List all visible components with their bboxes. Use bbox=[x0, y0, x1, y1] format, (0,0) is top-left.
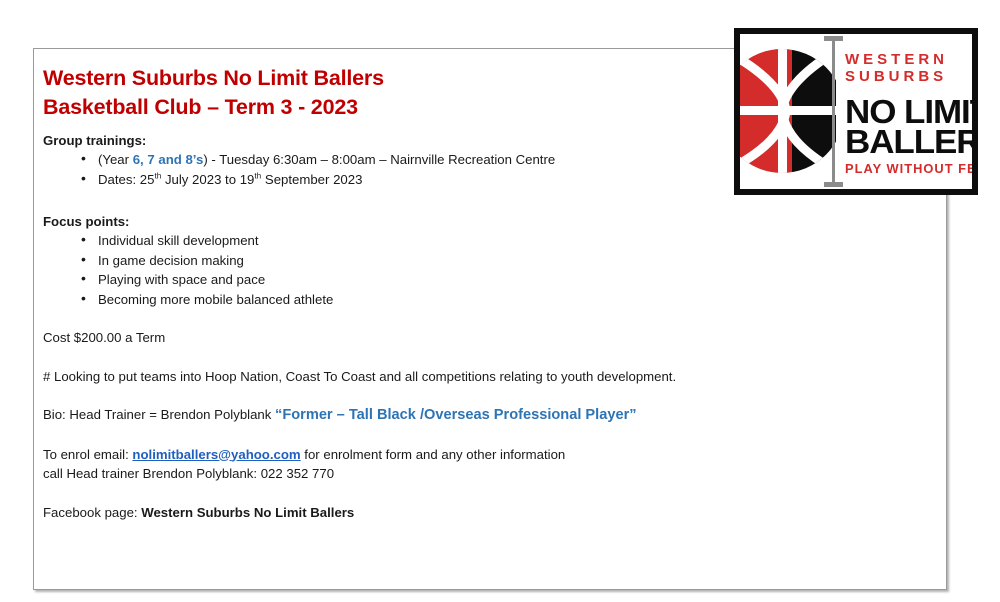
competitions-note: # Looking to put teams into Hoop Nation,… bbox=[43, 367, 937, 387]
logo-inner: WESTERN SUBURBS NO LIMIT BALLERS PLAY WI… bbox=[740, 34, 972, 189]
enrolment-lead: To enrol email: bbox=[43, 447, 132, 462]
bio-lead: Bio: Head Trainer = Brendon Polyblank bbox=[43, 407, 275, 422]
spacer bbox=[43, 484, 937, 503]
logo-tagline: PLAY WITHOUT FEAR bbox=[845, 161, 970, 177]
logo-ballers: BALLERS bbox=[845, 127, 975, 157]
list-item: Becoming more mobile balanced athlete bbox=[43, 290, 937, 310]
enrolment-trail: for enrolment form and any other informa… bbox=[301, 447, 566, 462]
logo-text-block: WESTERN SUBURBS NO LIMIT BALLERS PLAY WI… bbox=[845, 51, 968, 177]
logo-western: WESTERN bbox=[845, 51, 968, 68]
club-logo: WESTERN SUBURBS NO LIMIT BALLERS PLAY WI… bbox=[734, 28, 978, 195]
facebook-line: Facebook page: Western Suburbs No Limit … bbox=[43, 503, 937, 523]
spacer bbox=[43, 348, 937, 367]
spacer bbox=[43, 426, 937, 445]
bio-line: Bio: Head Trainer = Brendon Polyblank “F… bbox=[43, 405, 937, 426]
basketball-svg bbox=[734, 47, 836, 175]
bio-quote: “Former – Tall Black /Overseas Professio… bbox=[275, 407, 637, 423]
year-highlight: 6, 7 and 8’s bbox=[133, 152, 204, 167]
dates-text-b: July 2023 to 19 bbox=[161, 172, 254, 187]
list-item: Playing with space and pace bbox=[43, 270, 937, 290]
dates-text-a: Dates: 25 bbox=[98, 172, 154, 187]
logo-suburbs: SUBURBS bbox=[845, 68, 968, 85]
facebook-page-name: Western Suburbs No Limit Ballers bbox=[141, 505, 354, 520]
basketball-icon bbox=[734, 47, 836, 175]
list-item: Individual skill development bbox=[43, 231, 937, 251]
facebook-label: Facebook page: bbox=[43, 505, 141, 520]
year-suffix: ) - Tuesday 6:30am – 8:00am – Nairnville… bbox=[203, 152, 555, 167]
list-item: In game decision making bbox=[43, 251, 937, 271]
dates-text-c: September 2023 bbox=[261, 172, 362, 187]
focus-points-heading: Focus points: bbox=[43, 212, 937, 231]
focus-points-list: Individual skill development In game dec… bbox=[43, 231, 937, 309]
email-link[interactable]: nolimitballers@yahoo.com bbox=[132, 447, 300, 462]
year-prefix: (Year bbox=[98, 152, 133, 167]
cost-line: Cost $200.00 a Term bbox=[43, 328, 937, 348]
phone-line: call Head trainer Brendon Polyblank: 022… bbox=[43, 464, 937, 484]
spacer bbox=[43, 386, 937, 405]
pole-cap-bottom bbox=[824, 182, 843, 187]
spacer bbox=[43, 309, 937, 328]
enrolment-line: To enrol email: nolimitballers@yahoo.com… bbox=[43, 445, 937, 465]
pole-divider bbox=[832, 36, 835, 187]
